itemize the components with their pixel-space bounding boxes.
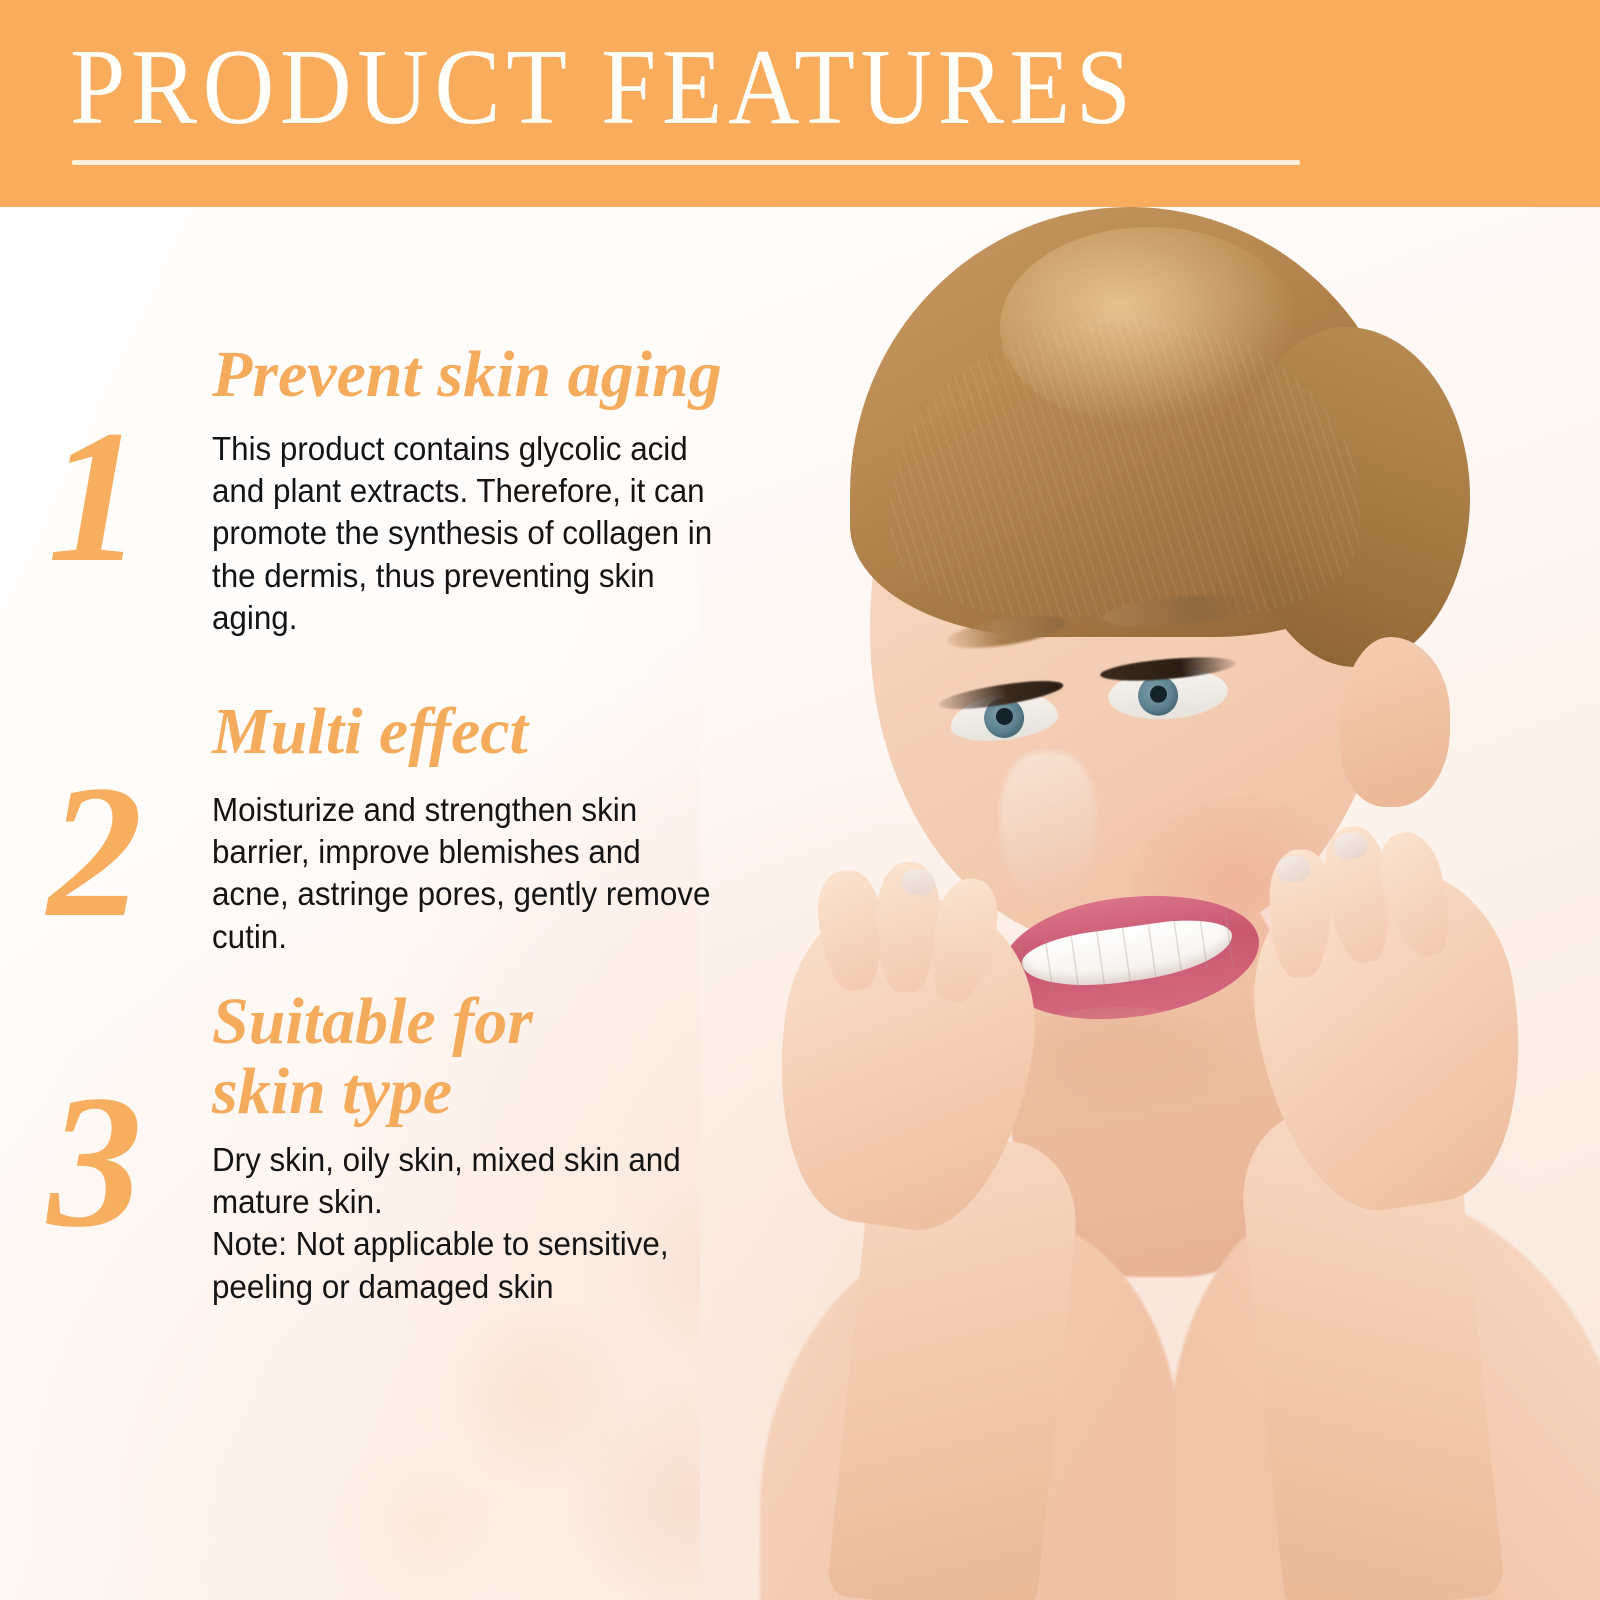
feature-body-3: Dry skin, oily skin, mixed skin and matu… [212, 1139, 716, 1308]
feature-number-2: 2 [0, 757, 190, 947]
feature-body-1: This product contains glycolic acid and … [212, 428, 716, 639]
title-underline-rule [72, 160, 1300, 165]
feature-body-2: Moisturize and strengthen skin barrier, … [212, 789, 716, 958]
feature-list: 1 Prevent skin aging This product contai… [0, 207, 760, 1600]
ear-shape [1340, 637, 1450, 807]
feature-heading-3: Suitable for skin type [212, 987, 533, 1127]
feature-heading-2: Multi effect [212, 697, 528, 767]
product-features-page: PRODUCT FEATURES [0, 0, 1600, 1600]
model-photo [700, 207, 1600, 1600]
nose-shape [1000, 752, 1096, 902]
page-title: PRODUCT FEATURES [70, 34, 1136, 142]
header-banner: PRODUCT FEATURES [0, 0, 1600, 207]
feature-number-1: 1 [0, 402, 190, 592]
feature-number-3: 3 [0, 1067, 190, 1257]
teeth [1019, 913, 1236, 996]
feature-heading-1: Prevent skin aging [212, 340, 722, 410]
right-iris [1137, 674, 1180, 717]
